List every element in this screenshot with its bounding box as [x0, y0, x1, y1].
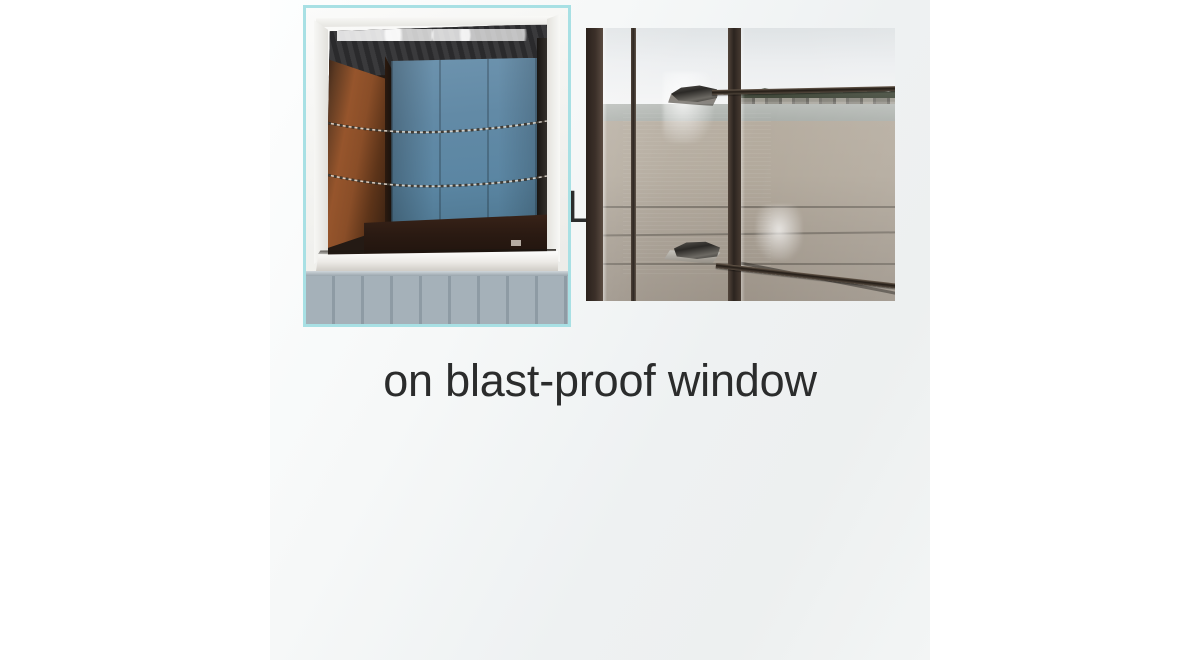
photo-window-opening-content — [306, 8, 568, 324]
window-mullion-center — [728, 28, 741, 301]
letterbox-right — [930, 0, 1200, 660]
blue-panel-shading — [391, 58, 544, 228]
slide-viewer: CL255 on blast-proof window — [0, 0, 1200, 660]
exterior-siding — [306, 276, 568, 324]
window-mullion-outer — [586, 28, 603, 301]
window-opening — [323, 24, 551, 264]
slide-title-line-2: on blast-proof window — [270, 352, 930, 410]
ceiling-highlight-specks — [337, 29, 538, 41]
glass-reflection-lower — [756, 205, 802, 260]
floor-debris-chip — [511, 240, 521, 246]
window-frame-right — [547, 14, 560, 262]
slide-canvas: CL255 on blast-proof window — [270, 0, 930, 660]
window-mullion-outer-highlight — [603, 28, 607, 301]
blue-blast-curtain-panel — [391, 58, 544, 228]
left-jamb-rust — [323, 58, 391, 250]
glass-reflection-upper — [663, 72, 712, 143]
letterbox-left — [0, 0, 270, 660]
window-mullion-secondary — [631, 28, 636, 301]
window-mullion-center-highlight — [741, 28, 745, 301]
window-frame-left — [314, 20, 328, 264]
catcher-chain-lower — [328, 173, 547, 189]
photo-window-opening — [303, 5, 571, 327]
photo-glass-anchor-detail — [586, 28, 895, 301]
catcher-chain-upper — [328, 120, 547, 136]
